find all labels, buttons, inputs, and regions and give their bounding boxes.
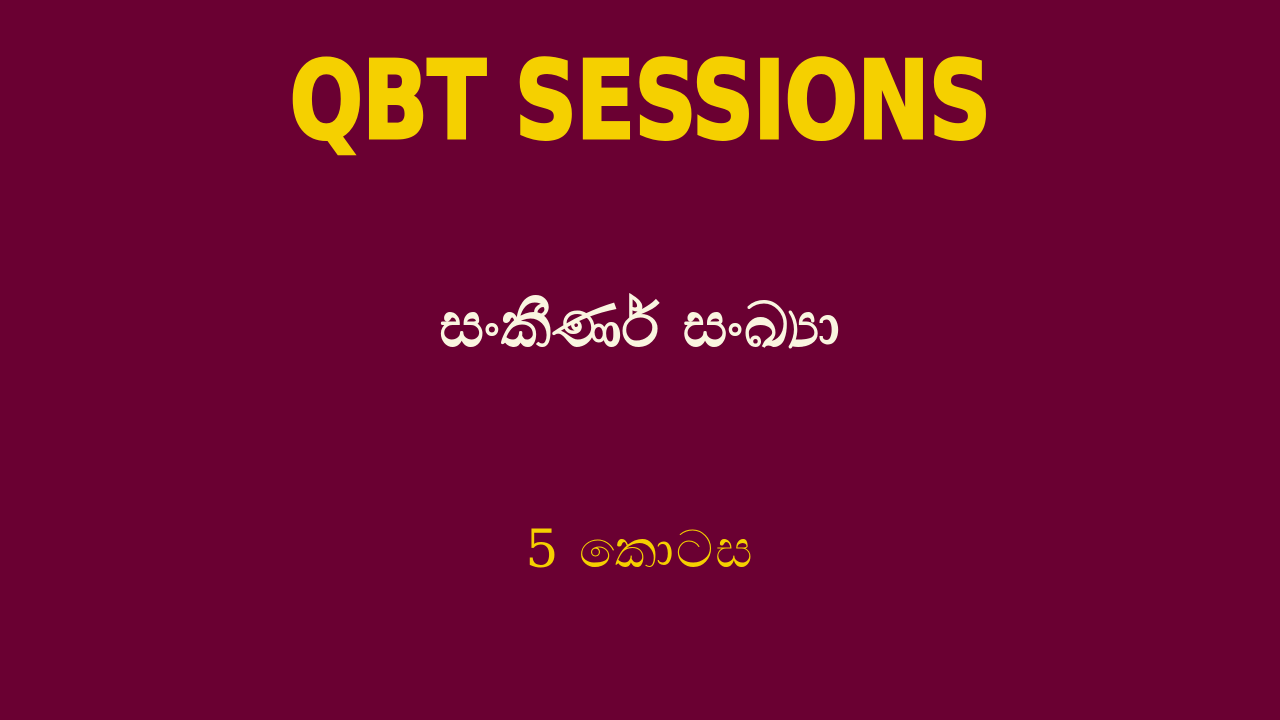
subject-block: සංකීර්ණ සංඛ්‍යා [0,286,1280,364]
subject-heading: සංකීර්ණ සංඛ්‍යා [439,286,840,364]
title-slide: QBT SESSIONS සංකීර්ණ සංඛ්‍යා 5 කොටස [0,0,1280,720]
title-block: QBT SESSIONS [0,48,1280,156]
part-block: 5 කොටස [0,518,1280,583]
part-label: 5 කොටස [525,518,754,583]
page-title: QBT SESSIONS [290,48,991,156]
